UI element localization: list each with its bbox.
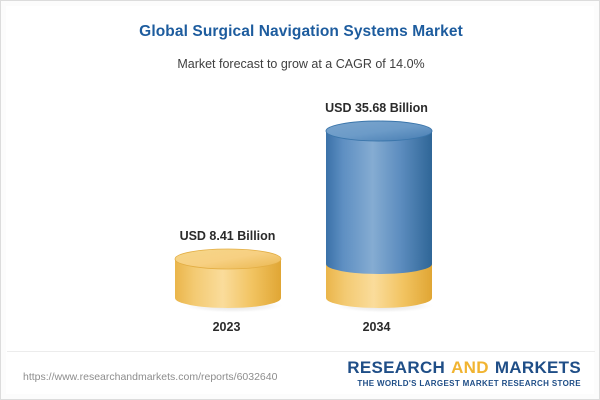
chart-subtitle: Market forecast to grow at a CAGR of 14.… <box>1 57 600 71</box>
logo-word-markets: MARKETS <box>495 358 581 377</box>
footer-divider <box>7 351 595 352</box>
chart-canvas: Global Surgical Navigation Systems Marke… <box>0 0 600 400</box>
report-url[interactable]: https://www.researchandmarkets.com/repor… <box>23 371 277 383</box>
research-and-markets-logo[interactable]: RESEARCHANDMARKETS THE WORLD'S LARGEST M… <box>347 359 581 388</box>
category-label-2034: 2034 <box>311 320 442 334</box>
data-label-2034: USD 35.68 Billion <box>274 101 479 115</box>
chart-title: Global Surgical Navigation Systems Marke… <box>1 23 600 41</box>
bar-cylinder-2034 <box>322 119 437 315</box>
data-label-2023: USD 8.41 Billion <box>125 229 330 243</box>
category-label-2023: 2023 <box>161 320 292 334</box>
logo-wordmark: RESEARCHANDMARKETS <box>347 359 581 376</box>
logo-tagline: THE WORLD'S LARGEST MARKET RESEARCH STOR… <box>347 380 581 388</box>
logo-word-research: RESEARCH <box>347 358 445 377</box>
bar-cylinder-2023 <box>171 247 286 315</box>
logo-word-and: AND <box>451 358 489 377</box>
